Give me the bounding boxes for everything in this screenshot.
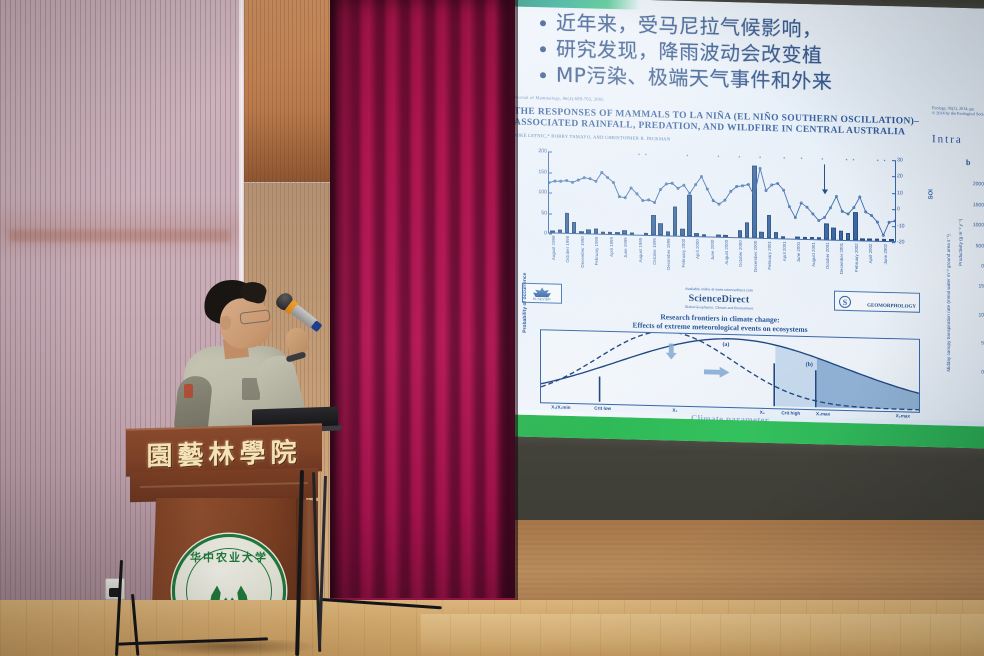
chart1-y-tick: 0: [544, 230, 547, 236]
wristband: [286, 351, 307, 362]
chart1-y2-tick: 10: [897, 190, 903, 196]
chart1-y-tick: 200: [538, 148, 547, 154]
chart1-x-tick-label: October 2000: [738, 240, 743, 267]
logo-chinese-name: 华中农业大学: [175, 549, 283, 565]
chart2-shaded-region: [817, 358, 919, 410]
chart1-y2-tick: 20: [897, 174, 903, 180]
ecology-journal-ref-line2: © 2014 by the Ecological Society: [932, 110, 984, 117]
chart3-panel-label: b: [966, 158, 970, 167]
chart3-y-axis-label: Productivity (g m⁻² y⁻¹): [958, 219, 964, 266]
chart1-x-tick-label: February 1999: [594, 237, 599, 266]
chart3-tick-label: 500: [966, 242, 984, 248]
chart3-tick-label: 0: [966, 263, 984, 269]
chart1-x-tick-label: August 1999: [638, 238, 643, 263]
chart1-asterisk-marker: *: [801, 157, 803, 163]
curtain-shadow-left: [330, 0, 352, 622]
bullet-dot-icon: [540, 20, 546, 26]
chart2-plot-area: (a)(b): [540, 329, 920, 413]
bullet-dot-icon: [540, 72, 546, 78]
chart3-tick-label: 5: [966, 340, 984, 346]
chart-productivity-transpiration: b0500100015002000Productivity (g m⁻² y⁻¹…: [932, 157, 984, 399]
chart1-x-tick-label: December 2000: [753, 241, 758, 272]
chart1-asterisk-marker: *: [638, 153, 640, 159]
chart1-y-tick: 50: [541, 210, 547, 216]
chart1-soi-line: [549, 151, 895, 242]
chart1-x-tick-label: June 2000: [710, 240, 715, 261]
chart1-plot-area: 050100150200-20-100102030*************: [548, 151, 896, 242]
elsevier-tree-icon: [533, 287, 551, 297]
chart3-tick-label: 15: [966, 283, 984, 289]
chart1-asterisk-marker: *: [877, 159, 879, 165]
chart2-y-axis-label: Probability of occurrence: [522, 272, 528, 332]
chart1-asterisk-marker: *: [846, 158, 848, 164]
journal-badge-icon: S: [839, 296, 851, 308]
chart3-tick-label: 0: [966, 369, 984, 375]
stage-curtain: [330, 0, 515, 622]
chart1-asterisk-marker: *: [738, 155, 740, 161]
elsevier-logo: ELSEVIER: [522, 283, 562, 304]
chart2-label-a: (a): [722, 342, 729, 348]
chart1-x-tick-label: June 2001: [796, 242, 801, 263]
chart1-x-tick-label: August 2001: [811, 242, 816, 267]
chart1-asterisk-marker: *: [645, 153, 647, 159]
chart1-x-tick-label: June 2002: [883, 244, 888, 265]
chart1-y2-tick: 30: [897, 157, 903, 163]
stage-floor-right: [420, 614, 984, 656]
chart3-tick-label: 10: [966, 312, 984, 318]
chart1-y2-tick: -20: [897, 239, 905, 245]
chart1-x-tick-label: October 2001: [825, 242, 830, 269]
geomorphology-logo: S GEOMORPHOLOGY: [834, 291, 920, 313]
slide-bullet-list: 近年来，受马尼拉气候影响， 研究发现，降雨波动会改变植 MP污染、极端天气事件和…: [540, 9, 984, 99]
chart-rainfall-soi: Rainfall (mm) SOI 050100150200-20-100102…: [514, 149, 926, 267]
chart1-x-tick-label: October 1998: [565, 236, 570, 263]
chart1-x-tick-label: June 1999: [623, 237, 628, 258]
curtain-shadow-right: [496, 0, 518, 622]
chart1-y-tick: 150: [538, 169, 547, 175]
geomorphology-label: GEOMORPHOLOGY: [867, 303, 916, 309]
wall-stain-line: [10, 230, 230, 242]
chart1-y2-tick: -10: [897, 223, 905, 229]
chart1-wildfire-arrow-icon: [824, 164, 825, 190]
projected-slide: 近年来，受马尼拉气候影响， 研究发现，降雨波动会改变植 MP污染、极端天气事件和…: [492, 0, 984, 449]
paper-header-left: Journal of Mammalogy, 86(4):689-703, 200…: [514, 95, 924, 148]
chart1-y2-tick: 0: [897, 206, 900, 212]
chart1-x-tick-label: December 2001: [839, 243, 844, 274]
chart1-asterisk-marker: *: [759, 156, 761, 162]
speaker-ear: [220, 316, 231, 330]
chart2-label-b: (b): [806, 362, 813, 368]
chart1-asterisk-marker: *: [783, 156, 785, 162]
chart2-curves: [541, 330, 919, 412]
chart1-x-tick-label: August 1998: [551, 235, 556, 260]
chart1-x-tick-label: April 2001: [782, 241, 787, 261]
lecture-hall-photo: 近年来，受马尼拉气候影响， 研究发现，降雨波动会改变植 MP污染、极端天气事件和…: [0, 0, 984, 656]
chart1-x-tick-label: April 2000: [695, 239, 700, 259]
chart1-asterisk-marker: *: [821, 157, 823, 163]
chart1-x-tick-label: February 2000: [681, 239, 686, 268]
chart1-y-tick: 100: [538, 189, 547, 195]
chart1-x-tick-label: February 2002: [854, 243, 859, 272]
chart1-x-tick-label: December 1998: [580, 236, 585, 267]
chart1-asterisk-marker: *: [852, 158, 854, 164]
chart1-x-tick-label: October 1999: [652, 238, 657, 265]
chart1-x-tick-label: April 2002: [868, 244, 873, 264]
chart3-tick-label: 1500: [966, 201, 984, 207]
chart3-tick-label: 2000: [966, 181, 984, 187]
chart1-y2-tickmark: [892, 242, 895, 243]
chart3-y-axis-label: Midday canopy transpiration rate (mmol w…: [946, 234, 952, 372]
elsevier-label: ELSEVIER: [523, 297, 561, 302]
chart1-x-tick-label: April 1999: [609, 237, 614, 257]
chart1-x-tick-label: February 2001: [767, 241, 772, 270]
chart1-x-tick-label: December 1999: [666, 238, 671, 269]
chart1-x-tick-label: August 2000: [724, 240, 729, 265]
bullet-dot-icon: [540, 46, 546, 52]
chart1-asterisk-marker: *: [686, 154, 688, 160]
chart3-tick-label: 1000: [966, 222, 984, 228]
chart2-shaded-region: [775, 345, 817, 407]
chart1-asterisk-marker: *: [718, 155, 720, 161]
ecology-paper-title: Intra: [932, 133, 984, 147]
chart1-asterisk-marker: *: [884, 159, 886, 165]
paper-header-right: Ecology, 95(2), 2014, pp. © 2014 by the …: [932, 105, 984, 147]
microphone[interactable]: [256, 290, 319, 353]
speaker-sleeve-badge: [184, 384, 193, 398]
